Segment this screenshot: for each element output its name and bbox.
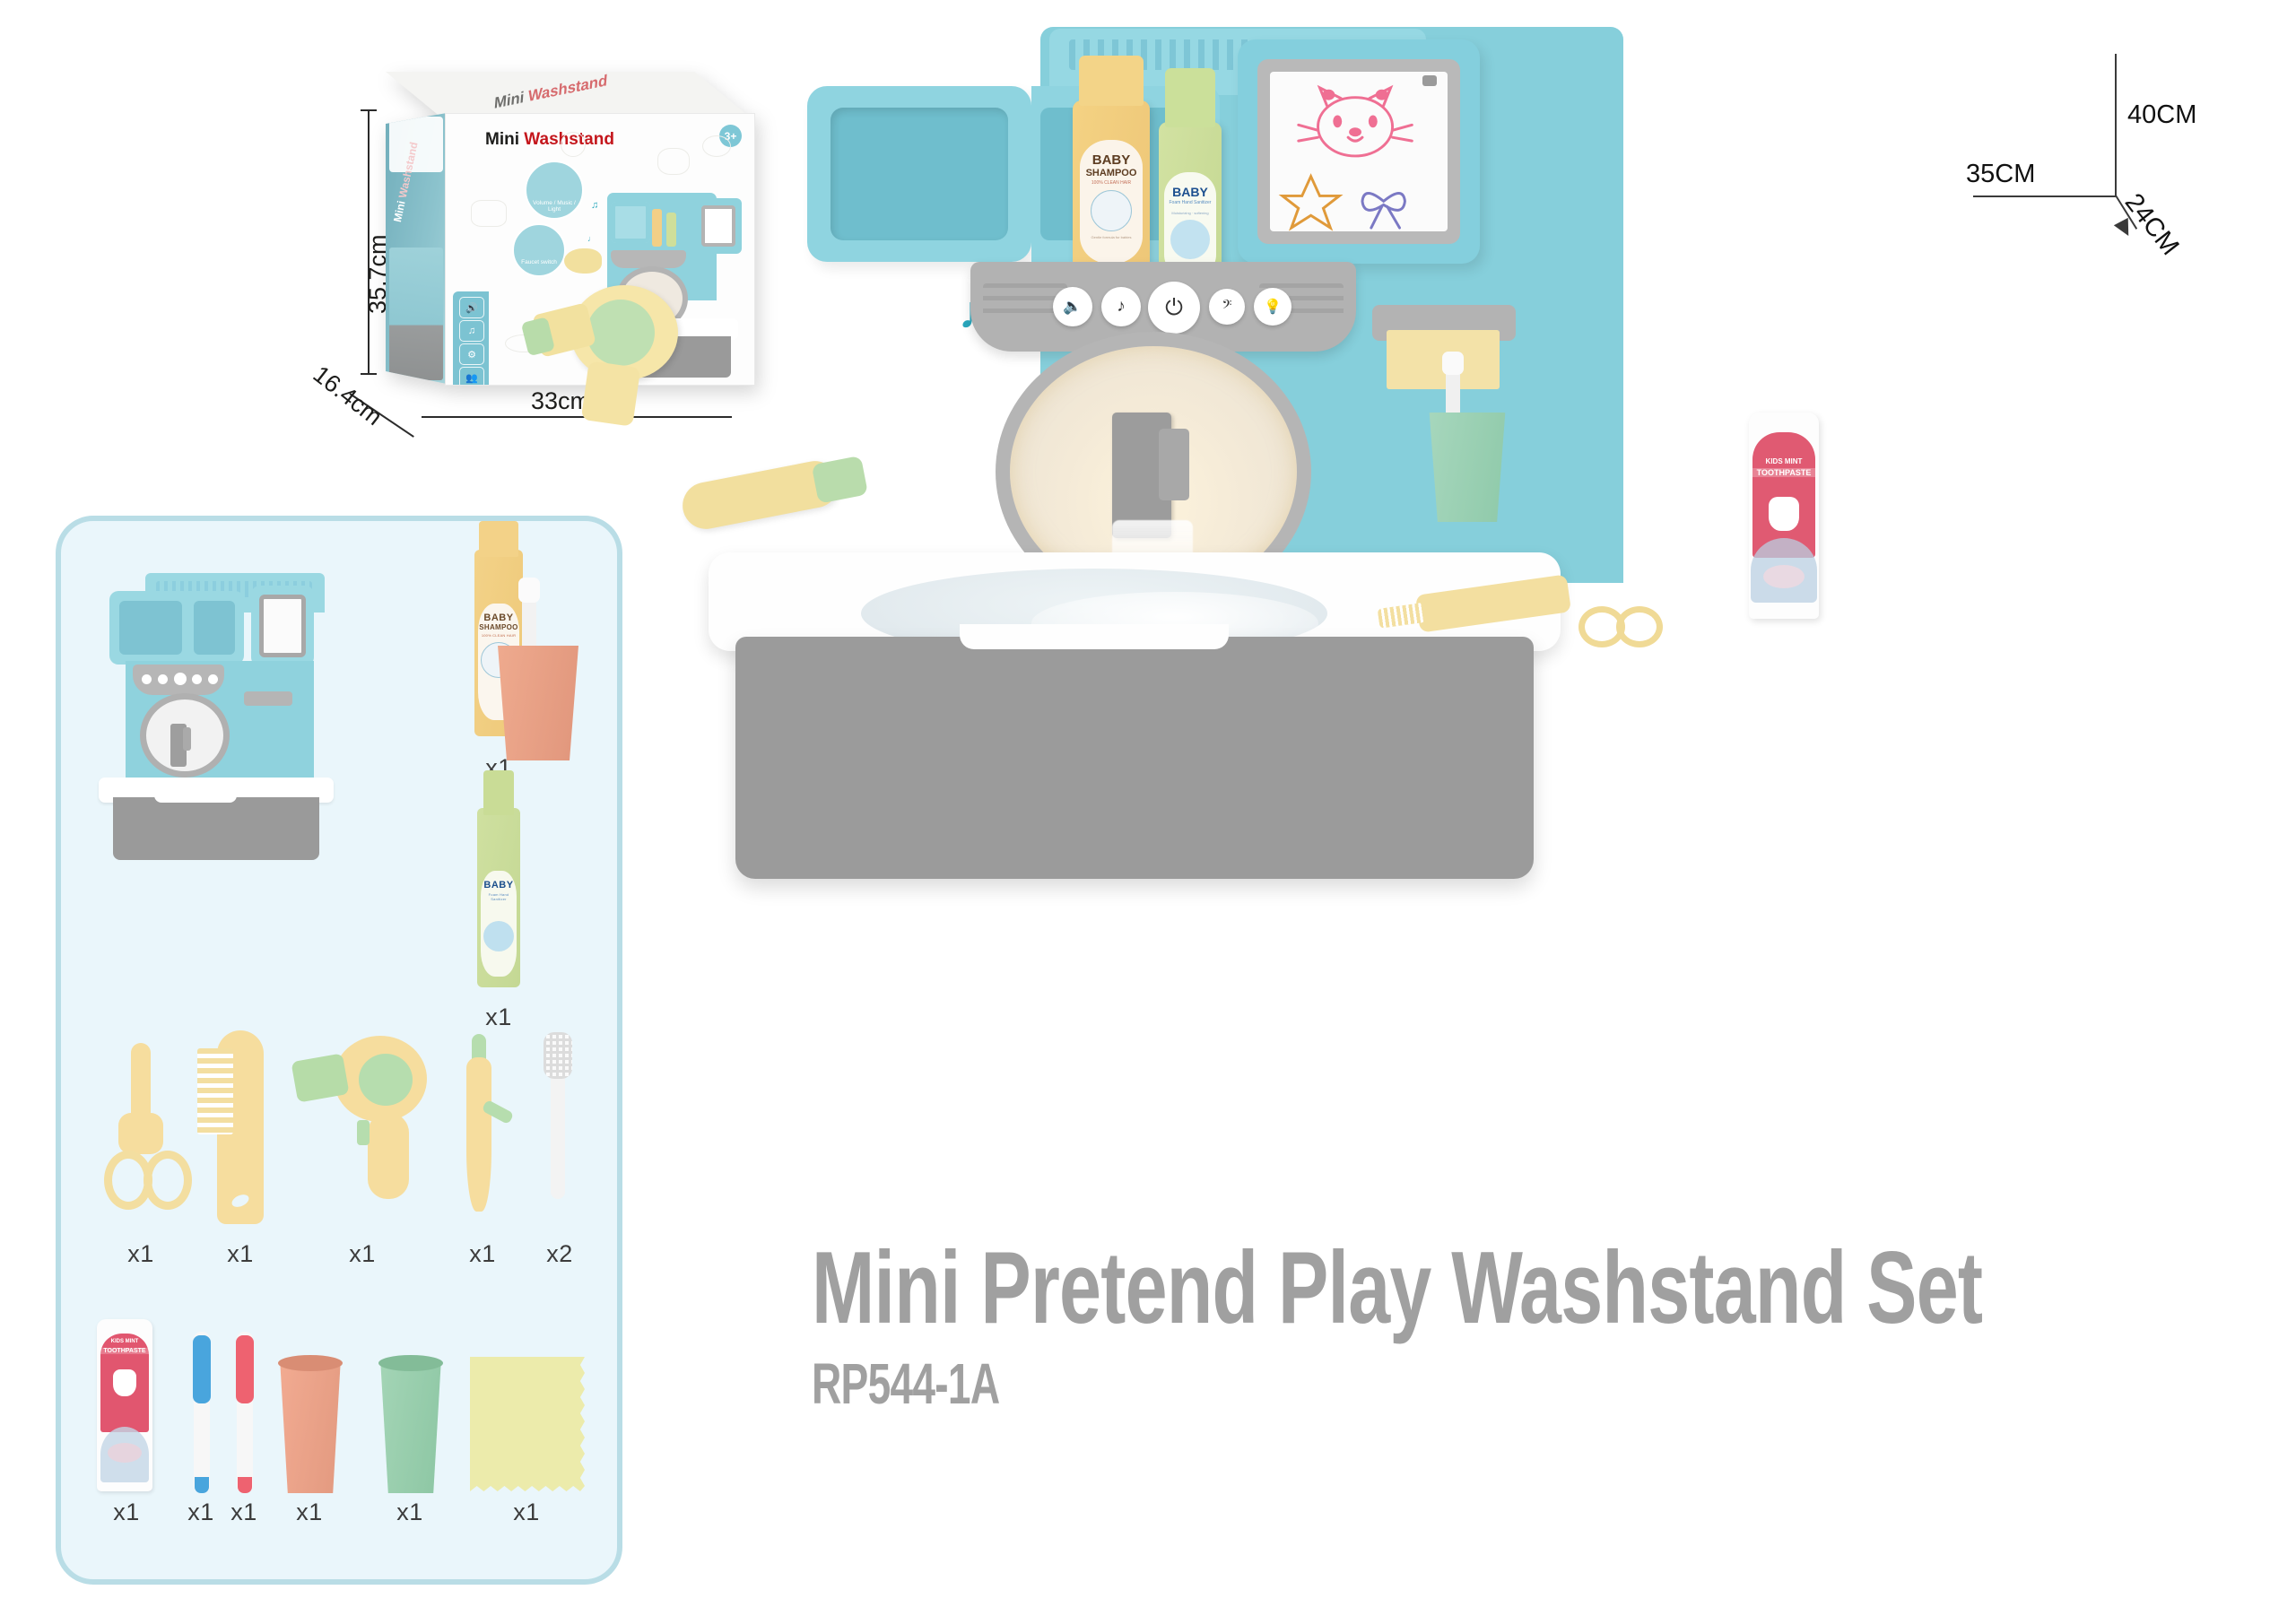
hero-lotion-icon: [1170, 220, 1210, 259]
package-depth-label: 16.4cm: [308, 361, 387, 431]
hero-green-cup: [1426, 413, 1509, 522]
dryer-handle: [581, 361, 641, 426]
music-button[interactable]: ♪: [1101, 287, 1141, 326]
lotion-label-icon: [483, 921, 514, 951]
shampoo-label-line1: BABY: [483, 613, 513, 623]
hero-faucet: [1112, 413, 1171, 538]
hero-lotion-line1: BABY: [1172, 185, 1208, 199]
hero-product-image: ♫ ♪ ♫ ♪ ♪ ♪ BABY SHAMPOO 100% CLEAN HAIR…: [807, 18, 2018, 1184]
scissors-ring-right: [143, 1151, 192, 1210]
hero-shampoo-label: BABY SHAMPOO 100% CLEAN HAIR Gentle form…: [1080, 140, 1144, 264]
hero-shampoo-line1: BABY: [1092, 152, 1131, 168]
accessory-qty-hairdryer: x1: [291, 1240, 434, 1268]
ghost-art-3: [702, 135, 731, 157]
drawing-board-slider-knob[interactable]: [1422, 75, 1437, 86]
hero-lotion-line2: Foam Hand Sanitizer: [1170, 200, 1212, 205]
hero-scissors-on-counter: [1578, 597, 1679, 637]
drawing-board-frame: [1257, 59, 1460, 244]
ps-faucet: [170, 724, 187, 767]
pink-cup-image: [260, 1346, 359, 1499]
drawing-board-doodles: [1270, 72, 1448, 231]
scissors-hub: [118, 1113, 163, 1154]
hero-pink-cup: [493, 646, 583, 760]
ps-button-light: [208, 674, 218, 684]
music-note-icon: ♫: [459, 320, 484, 342]
ps-storage-cube: [109, 591, 192, 665]
hero-base-drawer: [735, 637, 1534, 879]
accessory-item-cloth: x1: [459, 1351, 594, 1526]
scissors-image: [91, 1043, 190, 1240]
hero-dryer-on-counter: [679, 457, 843, 534]
faucet-icon: ⚙: [459, 343, 484, 365]
lotion-label: BABY Foam Hand Sanitizer: [481, 871, 517, 977]
box-side-product-photo: [389, 248, 443, 380]
accessory-item-toothpaste: KIDS MINT TOOTHPASTE x1: [86, 1319, 167, 1526]
hairdryer-dial: [359, 1054, 413, 1106]
accessory-qty-lotion: x1: [445, 1003, 552, 1031]
red-pen-tip: [238, 1477, 252, 1493]
ps-button-sound: [192, 674, 202, 684]
hero-shampoo-line3: 100% CLEAN HAIR: [1091, 180, 1131, 186]
ps-storage-cube-2: [188, 591, 244, 665]
accessory-qty-comb: x1: [197, 1240, 283, 1268]
title-block: Mini Pretend Play Washstand Set RP544-1A: [812, 1238, 2265, 1489]
hero-toothpaste-line2: TOOTHPASTE: [1752, 468, 1815, 477]
package-height-tick-top: [361, 109, 377, 111]
hero-storage-cube: [807, 86, 1031, 262]
accessory-item-comb: x1: [197, 1030, 283, 1268]
box-side-face: Mini Washstand: [386, 113, 447, 384]
callout-volume-music-light-label: Volume / Music / Light: [526, 200, 582, 213]
ps-base-drawer: [113, 797, 319, 860]
accessory-item-lotion: BABY Foam Hand Sanitizer x1: [445, 808, 552, 1031]
accessory-item-green-cup: x1: [361, 1346, 459, 1526]
ps-drawing-board: [251, 586, 314, 666]
comb-teeth: [197, 1048, 233, 1134]
accessory-item-hairdryer: x1: [291, 1030, 434, 1268]
accessory-item-clipper: x1: [443, 1030, 522, 1268]
hero-shampoo-cap: [1079, 56, 1144, 106]
accessory-qty-toothpaste: x1: [86, 1499, 167, 1526]
ps-control-panel: [133, 665, 224, 695]
accessory-qty-clipper: x1: [443, 1240, 522, 1268]
nail-clipper-image: [443, 1030, 522, 1240]
accessory-qty-toothbrush: x2: [522, 1240, 597, 1268]
blue-pen-tip: [195, 1477, 209, 1493]
hero-drawing-board: [1238, 39, 1480, 264]
ps-button-music: [158, 674, 168, 684]
hero-lotion-line3: Moisturizing · softening: [1171, 211, 1208, 215]
accessory-qty-green-cup: x1: [361, 1499, 459, 1526]
callout-faucet-switch: Faucet switch: [512, 223, 566, 277]
hero-toothpaste-tube: KIDS MINT TOOTHPASTE: [1749, 413, 1819, 619]
hair-dryer-floating: [538, 278, 717, 421]
sound-button[interactable]: 𝄢: [1209, 289, 1245, 325]
shampoo-label-line3: 100% CLEAN HAIR: [482, 633, 516, 638]
green-cup-body: [378, 1360, 443, 1493]
size-height-label: 40CM: [2127, 100, 2196, 130]
volume-button[interactable]: 🔈: [1053, 287, 1092, 326]
hero-toothpaste-oval: [1763, 565, 1805, 588]
green-cup-rim: [378, 1355, 443, 1371]
lotion-cap: [483, 770, 514, 815]
drawing-board-sheet: [1270, 72, 1448, 231]
mp-shelf: [611, 202, 650, 243]
box-side-brand-mini: Mini: [391, 196, 408, 223]
ps-towel-bar: [244, 691, 292, 706]
callout-faucet-switch-label: Faucet switch: [514, 259, 564, 265]
mp-drawing-board: [695, 198, 742, 254]
shampoo-cap: [479, 521, 518, 557]
toothpaste-label-line1: KIDS MINT: [100, 1339, 149, 1344]
hair-dryer-image: [291, 1030, 434, 1240]
speaker-icon: 🔊: [459, 297, 484, 318]
hero-lotion-cap: [1165, 68, 1215, 127]
lotion-label-line1: BABY: [483, 880, 513, 891]
feature-icon-strip: 🔊 ♫ ⚙ 👥: [453, 291, 489, 385]
clipper-body: [466, 1057, 491, 1212]
accessory-item-scissors: x1: [91, 1043, 190, 1268]
accessory-qty-cloth: x1: [459, 1499, 594, 1526]
shampoo-label-line2: SHAMPOO: [479, 623, 517, 631]
toothpaste-tube-image: KIDS MINT TOOTHPASTE: [86, 1319, 167, 1499]
ps-button-volume: [142, 674, 152, 684]
ghost-art-4: [471, 200, 507, 227]
hero-shampoo-line4: Gentle formula for babies: [1083, 235, 1139, 239]
product-code: RP544-1A: [812, 1351, 1857, 1417]
hero-lotion-bottle: BABY Foam Hand Sanitizer Moisturizing · …: [1159, 122, 1222, 271]
cloth-body: [470, 1357, 585, 1491]
accessory-qty-scissors: x1: [91, 1240, 190, 1268]
washstand-unit-image: [90, 566, 405, 835]
size-height-line: [2115, 54, 2117, 197]
ps-button-power: [174, 673, 187, 685]
toothbrush-head: [544, 1032, 572, 1079]
hairdryer-handle: [368, 1113, 409, 1199]
comb-image: [197, 1030, 283, 1240]
toothbrush-image: [522, 1030, 597, 1240]
box-front-title-mini: Mini: [485, 130, 524, 149]
package-height-tick-bottom: [361, 373, 377, 375]
accessory-item-toothbrush: x2: [522, 1030, 597, 1268]
baby-lotion-bottle-image: BABY Foam Hand Sanitizer: [477, 808, 520, 987]
hero-shampoo-bottle: BABY SHAMPOO 100% CLEAN HAIR Gentle form…: [1073, 100, 1150, 271]
lotion-label-line2: Foam Hand Sanitizer: [481, 892, 517, 901]
mp-shampoo-bottle: [652, 209, 662, 247]
size-diagram: 40CM 35CM 24CM: [2009, 45, 2278, 260]
mp-lotion-bottle: [666, 213, 676, 247]
pink-cup-rim: [278, 1355, 343, 1371]
green-cup-image: [361, 1346, 459, 1499]
toothpaste-oval: [108, 1443, 142, 1463]
power-button[interactable]: ⏻: [1148, 282, 1200, 334]
people-icon: 👥: [459, 367, 484, 386]
hero-shampoo-icon: [1091, 190, 1132, 231]
red-pen-cap: [236, 1335, 254, 1403]
star-doodle: [1283, 177, 1339, 228]
light-button[interactable]: 💡: [1254, 288, 1291, 326]
toothpaste-tooth-icon: [113, 1369, 136, 1396]
hero-shampoo-line2: SHAMPOO: [1086, 168, 1137, 178]
accessory-qty-pink-cup: x1: [260, 1499, 359, 1526]
callout-volume-music-light: Volume / Music / Light: [525, 161, 584, 220]
blue-pen-cap: [193, 1335, 211, 1403]
pink-cup-body: [278, 1360, 343, 1493]
mp-control-panel: [611, 250, 686, 268]
accessory-item-washstand: x1: [70, 537, 429, 852]
hero-toothpaste-tooth-icon: [1769, 497, 1799, 531]
ghost-art-1: [561, 132, 586, 157]
hero-scissors-ring-right: [1616, 606, 1663, 647]
toothpaste-label-line2: TOOTHPASTE: [100, 1348, 149, 1354]
ghost-art-2: [657, 148, 690, 175]
box-front-title: Mini Washstand: [485, 130, 614, 150]
cleaning-cloth-image: [459, 1351, 594, 1499]
bow-doodle: [1362, 193, 1405, 228]
hero-toothpaste-line1: KIDS MINT: [1752, 457, 1815, 465]
accessory-item-pink-cup: x1: [260, 1346, 359, 1526]
product-title: Mini Pretend Play Washstand Set: [812, 1238, 1887, 1340]
hairdryer-switch: [357, 1120, 370, 1145]
